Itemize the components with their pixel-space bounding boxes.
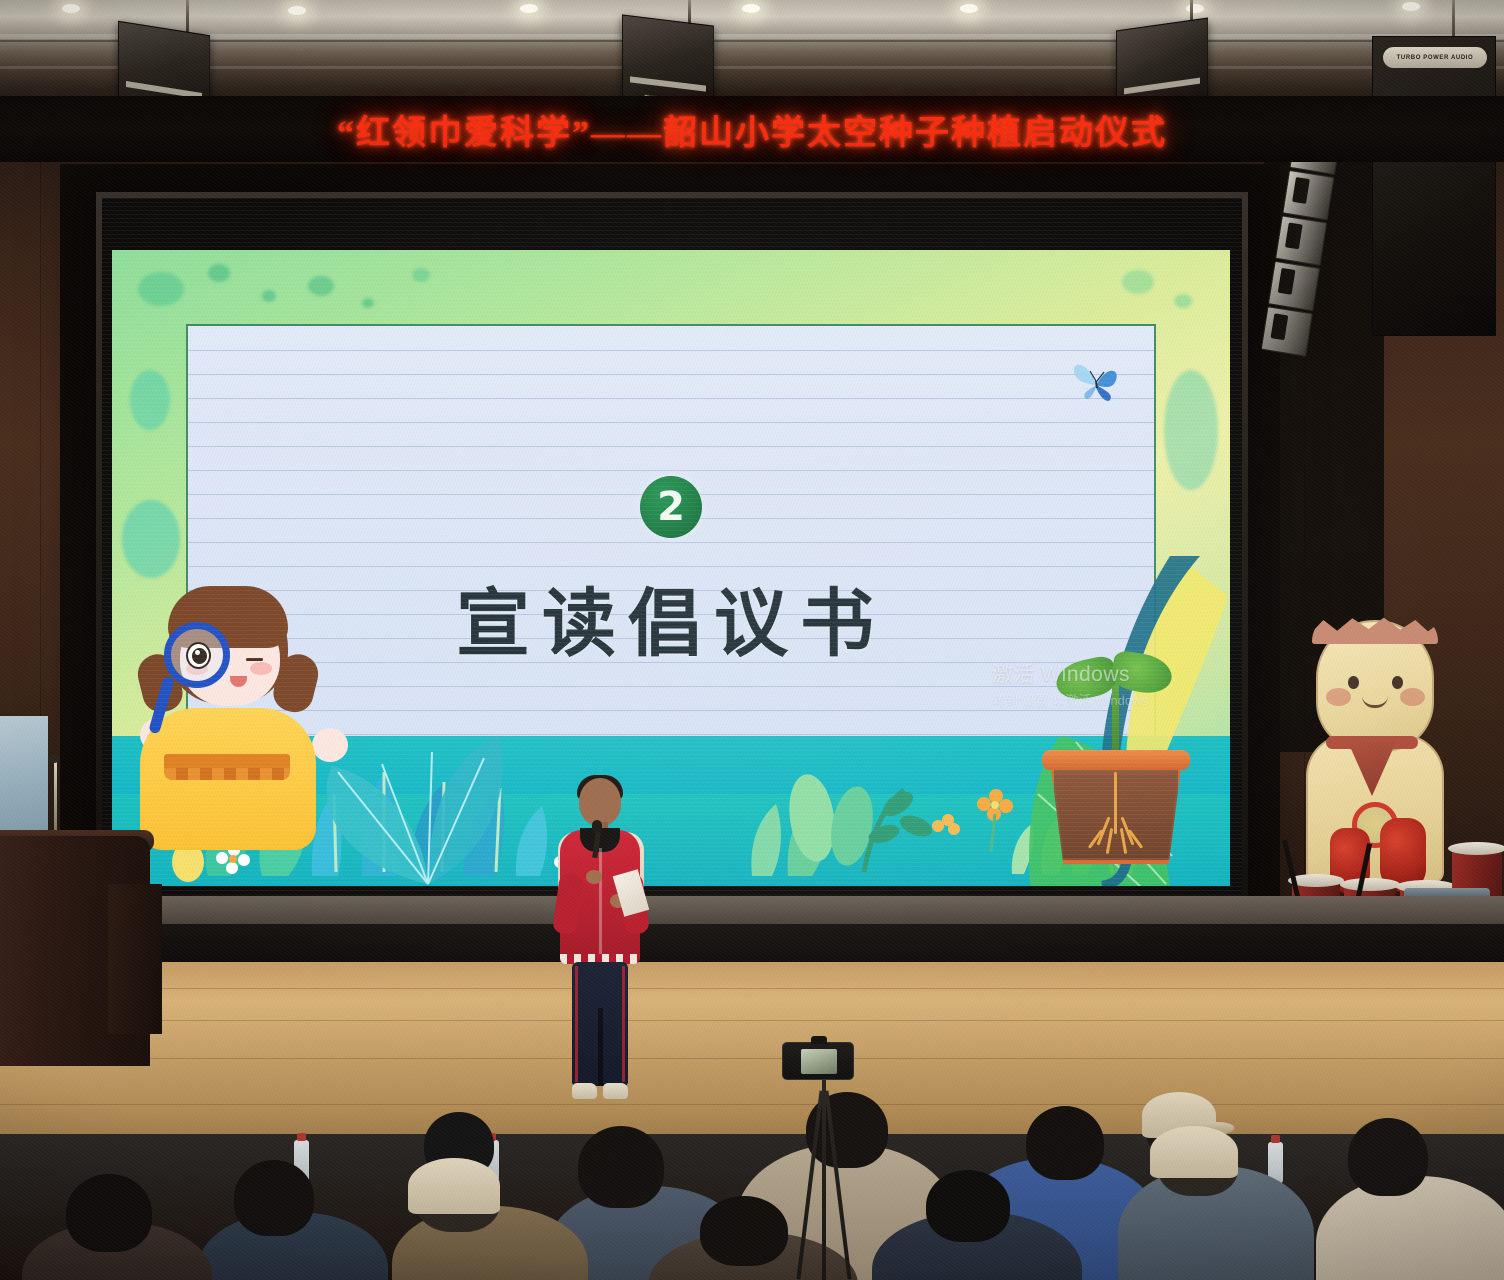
audience-head bbox=[1348, 1118, 1428, 1196]
ceiling-downlight bbox=[742, 4, 760, 13]
cartoon-girl-icon bbox=[134, 580, 350, 860]
student-presenter bbox=[552, 778, 648, 1118]
presentation-slide: 2 宣读倡议书 bbox=[112, 250, 1230, 886]
ceiling-downlight bbox=[1186, 4, 1204, 13]
smartphone-camera[interactable] bbox=[782, 1042, 854, 1080]
mascot-cutout bbox=[1300, 616, 1450, 876]
sprout-leaf-right bbox=[1109, 649, 1175, 697]
podium-banner-panel bbox=[0, 716, 48, 844]
flower-orange bbox=[977, 789, 1013, 852]
butterfly-icon bbox=[1066, 354, 1124, 404]
audience-head bbox=[700, 1196, 788, 1266]
presenter-shoe bbox=[572, 1083, 597, 1099]
led-display-screen: 2 宣读倡议书 bbox=[96, 192, 1248, 900]
ceiling-downlight bbox=[960, 4, 978, 13]
audience-head bbox=[1026, 1106, 1104, 1180]
camera-lens-icon bbox=[811, 1036, 827, 1044]
banner-text: “红领巾爱科学”——韶山小学太空种子种植启动仪式 bbox=[337, 105, 1167, 154]
audience-head bbox=[578, 1126, 664, 1208]
auditorium-scene: TURBO POWER AUDIO “红领巾爱科学”——韶山小学太空种子种植启动… bbox=[0, 0, 1504, 1280]
led-event-banner: “红领巾爱科学”——韶山小学太空种子种植启动仪式 bbox=[0, 96, 1504, 162]
amp-brand-label: TURBO POWER AUDIO bbox=[1383, 47, 1487, 68]
podium-microphone bbox=[48, 754, 60, 763]
ceiling-downlight bbox=[520, 4, 538, 13]
presenter-head bbox=[579, 778, 621, 826]
ceiling-downlight bbox=[62, 4, 80, 13]
audience-head bbox=[926, 1170, 1010, 1242]
ceiling-downlight bbox=[288, 6, 306, 15]
audience-head bbox=[234, 1160, 314, 1236]
podium-side-block bbox=[108, 884, 162, 1034]
flower-orange-small bbox=[932, 814, 960, 835]
audience-head bbox=[66, 1174, 152, 1252]
ceiling-downlight bbox=[1402, 2, 1420, 11]
sprout-leaf-left bbox=[1053, 654, 1120, 704]
phone-screen[interactable] bbox=[801, 1049, 837, 1074]
step-number-badge: 2 bbox=[640, 476, 702, 538]
tripod-leg bbox=[822, 1080, 826, 1280]
baseball-cap bbox=[1150, 1126, 1238, 1178]
presenter-shoe bbox=[603, 1083, 628, 1099]
amplifier-rack: TURBO POWER AUDIO bbox=[1372, 36, 1496, 336]
potted-seedling-icon bbox=[1036, 628, 1196, 864]
baseball-cap bbox=[408, 1158, 500, 1214]
